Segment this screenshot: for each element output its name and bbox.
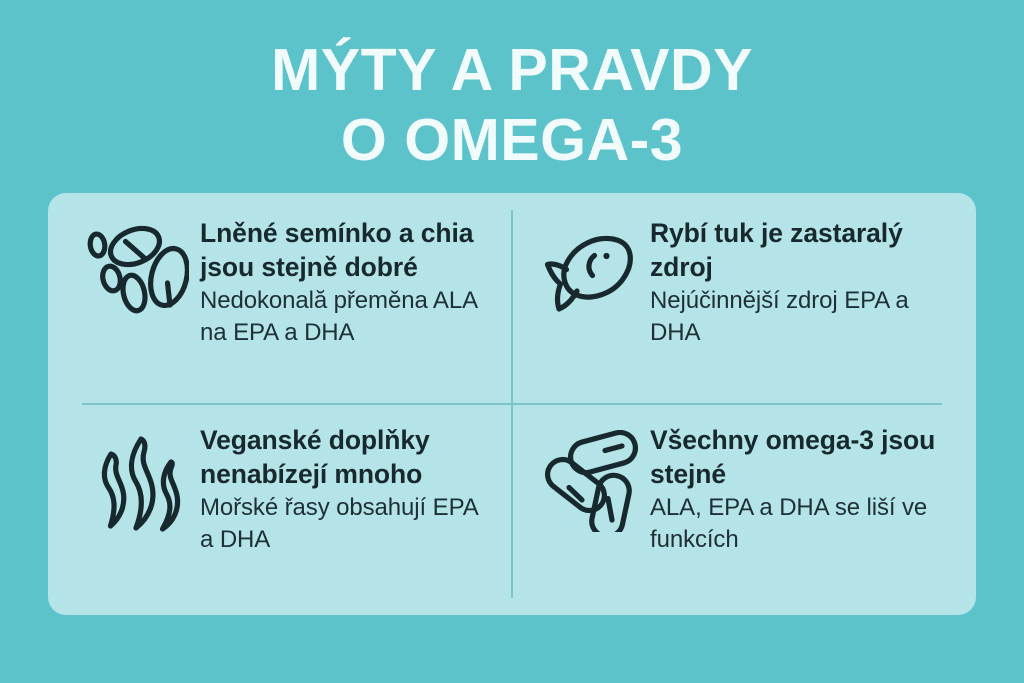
grid-divider-horizontal [82, 403, 942, 405]
myth-text-flaxseed-chia: Lněné semínko a chia jsou stejně dobré N… [200, 215, 496, 349]
seeds-icon [74, 215, 200, 333]
poster-title: MÝTY A PRAVDY O OMEGA-3 [0, 36, 1024, 175]
myth-subtitle: Nedokonală přeměna ALA na EPA a DHA [200, 285, 496, 349]
myth-item-fish-oil: Rybí tuk je zastaralý zdroj Nejúčinnější… [512, 193, 976, 404]
myth-heading: Všechny omega-3 jsou stejné [650, 424, 960, 491]
poster-title-line-1: MÝTY A PRAVDY [0, 36, 1024, 106]
myth-item-all-omega3-same: Všechny omega-3 jsou stejné ALA, EPA a D… [512, 404, 976, 615]
poster-title-line-2: O OMEGA-3 [0, 106, 1024, 176]
myth-heading: Rybí tuk je zastaralý zdroj [650, 217, 960, 284]
myths-card: Lněné semínko a chia jsou stejně dobré N… [48, 193, 976, 615]
myth-item-vegan-supplements: Veganské doplňky nenabízejí mnoho Mořské… [48, 404, 512, 615]
myth-item-flaxseed-chia: Lněné semínko a chia jsou stejně dobré N… [48, 193, 512, 404]
myth-heading: Veganské doplňky nenabízejí mnoho [200, 424, 496, 491]
capsules-icon [532, 422, 650, 540]
seaweed-icon [78, 422, 200, 540]
myth-heading: Lněné semínko a chia jsou stejně dobré [200, 217, 496, 284]
myth-text-all-omega3-same: Všechny omega-3 jsou stejné ALA, EPA a D… [650, 422, 960, 556]
myth-subtitle: ALA, EPA a DHA se liší ve funkcích [650, 492, 960, 556]
fish-icon [532, 215, 650, 333]
myth-subtitle: Mořské řasy obsahují EPA a DHA [200, 492, 496, 556]
myth-subtitle: Nejúčinnější zdroj EPA a DHA [650, 285, 960, 349]
infographic-poster: MÝTY A PRAVDY O OMEGA-3 [0, 0, 1024, 683]
myth-text-vegan-supplements: Veganské doplňky nenabízejí mnoho Mořské… [200, 422, 496, 556]
myth-text-fish-oil: Rybí tuk je zastaralý zdroj Nejúčinnější… [650, 215, 960, 349]
